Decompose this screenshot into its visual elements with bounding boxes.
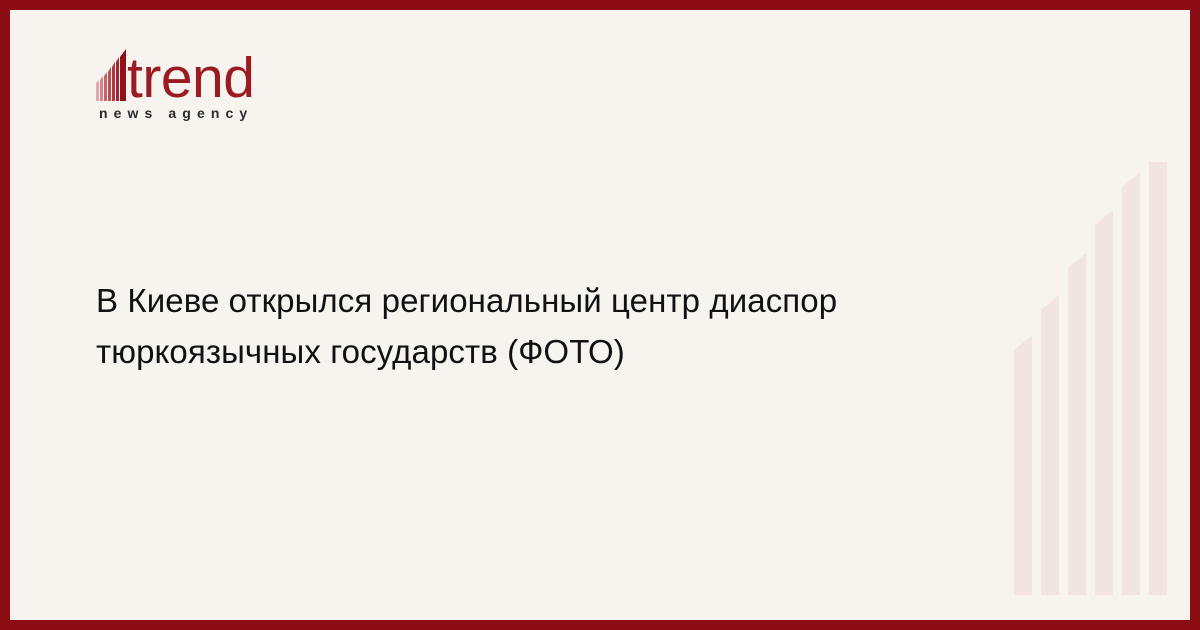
card-canvas: trend news agency В Киеве открылся регио… xyxy=(10,10,1190,620)
trend-ascending-bars-icon xyxy=(96,49,126,101)
social-share-card: trend news agency В Киеве открылся регио… xyxy=(0,0,1200,630)
logo-wordmark: trend xyxy=(127,52,254,104)
page-title: В Киеве открылся региональный центр диас… xyxy=(96,275,1046,377)
logo-mark: trend xyxy=(96,43,356,101)
brand-logo[interactable]: trend news agency xyxy=(96,43,356,121)
